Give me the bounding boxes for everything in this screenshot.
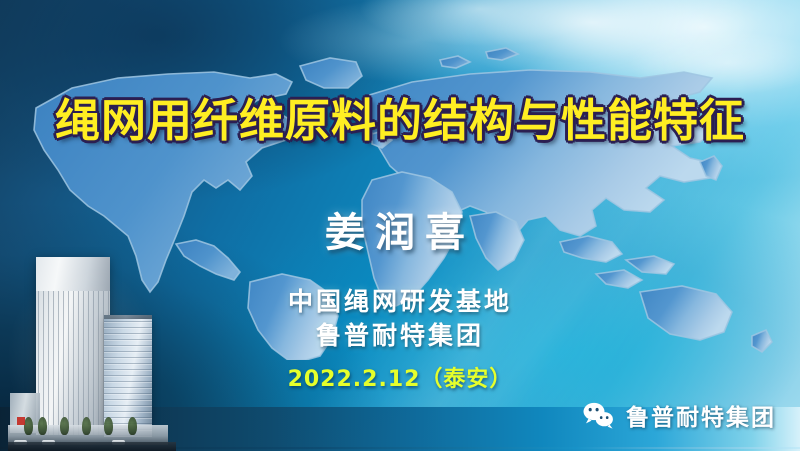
organization-line-1: 中国绳网研发基地 xyxy=(0,285,800,319)
organization-block: 中国绳网研发基地 鲁普耐特集团 2022.2.12（泰安） xyxy=(0,285,800,393)
brand-name-label: 鲁普耐特集团 xyxy=(626,398,776,432)
wechat-icon xyxy=(581,400,615,430)
author-name: 姜润喜 xyxy=(0,200,800,258)
brand-lockup: 鲁普耐特集团 xyxy=(581,398,776,432)
title-slide: 绳网用纤维原料的结构与性能特征 姜润喜 中国绳网研发基地 鲁普耐特集团 2022… xyxy=(0,0,800,451)
organization-line-2: 鲁普耐特集团 xyxy=(0,319,800,353)
date-location-text: 2022.2.12（泰安） xyxy=(0,361,800,393)
page-title: 绳网用纤维原料的结构与性能特征 xyxy=(0,84,800,149)
